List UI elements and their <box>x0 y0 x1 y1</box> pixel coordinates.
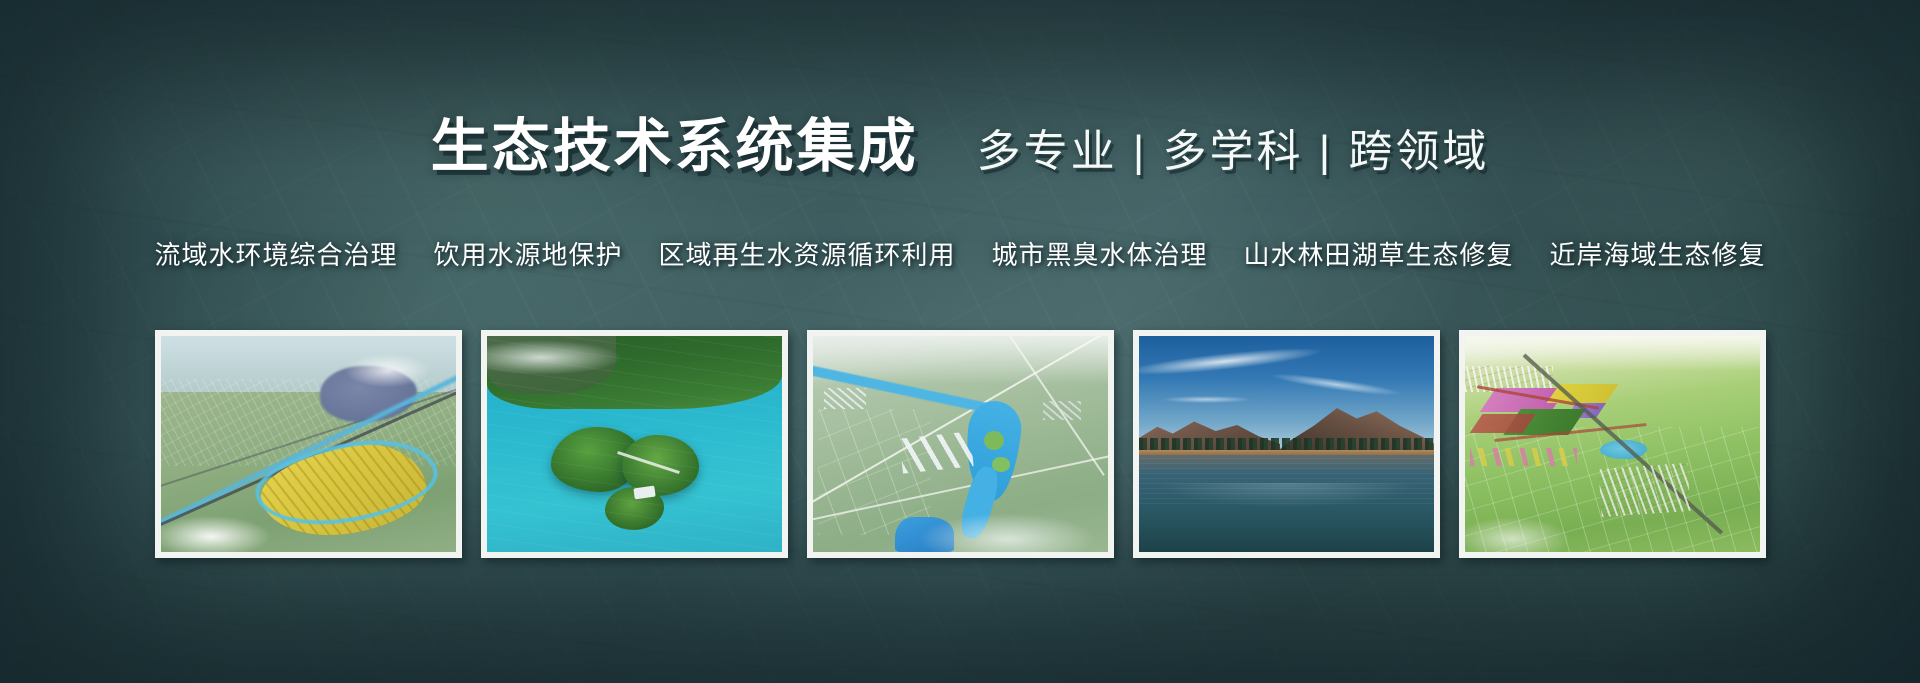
gallery-thumbnail-1[interactable] <box>155 330 462 558</box>
page-title: 生态技术系统集成 <box>431 118 919 176</box>
thumbnail-gallery <box>0 330 1920 558</box>
thumbnail-image-3 <box>813 336 1108 552</box>
category-item-1[interactable]: 流域水环境综合治理 <box>154 235 397 272</box>
category-item-2[interactable]: 饮用水源地保护 <box>433 235 622 272</box>
gallery-thumbnail-3[interactable] <box>807 330 1114 558</box>
category-list: 流域水环境综合治理 饮用水源地保护 区域再生水资源循环利用 城市黑臭水体治理 山… <box>0 235 1920 272</box>
thumbnail-image-1 <box>161 336 456 552</box>
thumbnail-image-4 <box>1139 336 1434 552</box>
hero-banner: 生态技术系统集成 多专业 | 多学科 | 跨领域 流域水环境综合治理 饮用水源地… <box>0 0 1920 683</box>
category-item-5[interactable]: 山水林田湖草生态修复 <box>1244 235 1514 272</box>
gallery-thumbnail-4[interactable] <box>1133 330 1440 558</box>
category-item-6[interactable]: 近岸海域生态修复 <box>1550 235 1766 272</box>
category-item-3[interactable]: 区域再生水资源循环利用 <box>658 235 955 272</box>
page-subtitle: 多专业 | 多学科 | 跨领域 <box>977 130 1490 174</box>
thumbnail-image-5 <box>1465 336 1760 552</box>
headline-row: 生态技术系统集成 多专业 | 多学科 | 跨领域 <box>0 118 1920 176</box>
banner-content: 生态技术系统集成 多专业 | 多学科 | 跨领域 流域水环境综合治理 饮用水源地… <box>0 0 1920 683</box>
gallery-thumbnail-5[interactable] <box>1459 330 1766 558</box>
thumbnail-image-2 <box>487 336 782 552</box>
gallery-thumbnail-2[interactable] <box>481 330 788 558</box>
category-item-4[interactable]: 城市黑臭水体治理 <box>992 235 1208 272</box>
